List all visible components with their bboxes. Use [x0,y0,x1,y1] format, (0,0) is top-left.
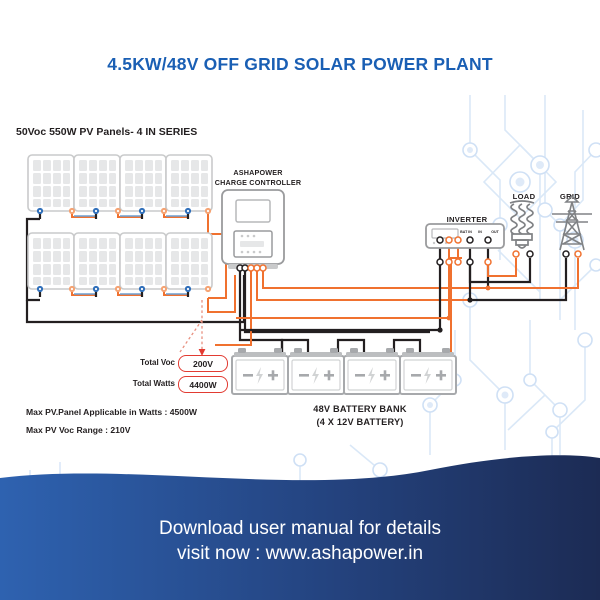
footer-line-2: visit now : www.ashapower.in [0,541,600,566]
footer-text-block: Download user manual for details visit n… [0,516,600,566]
footer-banner [0,0,600,600]
diagram-canvas: 4.5KW/48V OFF GRID SOLAR POWER PLANT 50V… [0,0,600,600]
footer-line-1: Download user manual for details [0,516,600,541]
